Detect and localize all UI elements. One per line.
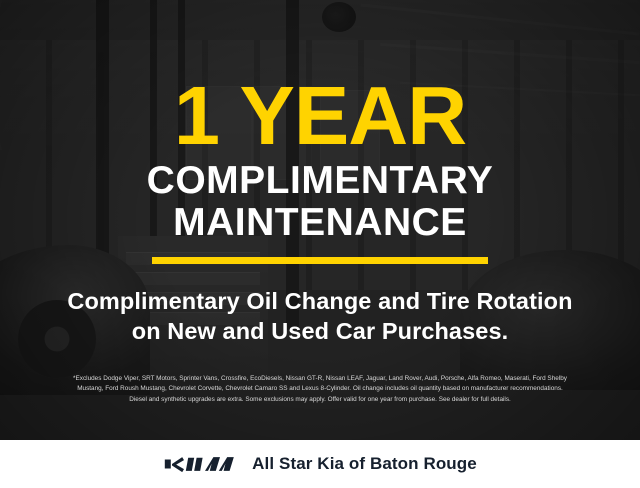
footer-bar: All Star Kia of Baton Rouge	[0, 440, 640, 488]
subhead-complimentary: COMPLIMENTARY	[147, 160, 494, 202]
tagline: Complimentary Oil Change and Tire Rotati…	[67, 286, 572, 346]
disclaimer-line-2: Mustang, Ford Roush Mustang, Chevrolet C…	[14, 384, 626, 394]
kia-logo-icon	[163, 453, 235, 475]
headline-1-year: 1 YEAR	[174, 78, 466, 154]
disclaimer-text: *Excludes Dodge Viper, SRT Motors, Sprin…	[0, 374, 640, 405]
tagline-line-2: on New and Used Car Purchases.	[67, 316, 572, 346]
disclaimer-line-1: *Excludes Dodge Viper, SRT Motors, Sprin…	[14, 374, 626, 384]
dealer-name: All Star Kia of Baton Rouge	[252, 454, 477, 474]
disclaimer-line-3: Diesel and synthetic upgrades are extra.…	[14, 395, 626, 405]
promotional-banner: 1 YEAR COMPLIMENTARY MAINTENANCE Complim…	[0, 0, 640, 488]
tagline-line-1: Complimentary Oil Change and Tire Rotati…	[67, 286, 572, 316]
subhead-maintenance: MAINTENANCE	[173, 202, 467, 244]
yellow-divider-rule	[152, 257, 488, 264]
banner-content: 1 YEAR COMPLIMENTARY MAINTENANCE Complim…	[0, 0, 640, 488]
